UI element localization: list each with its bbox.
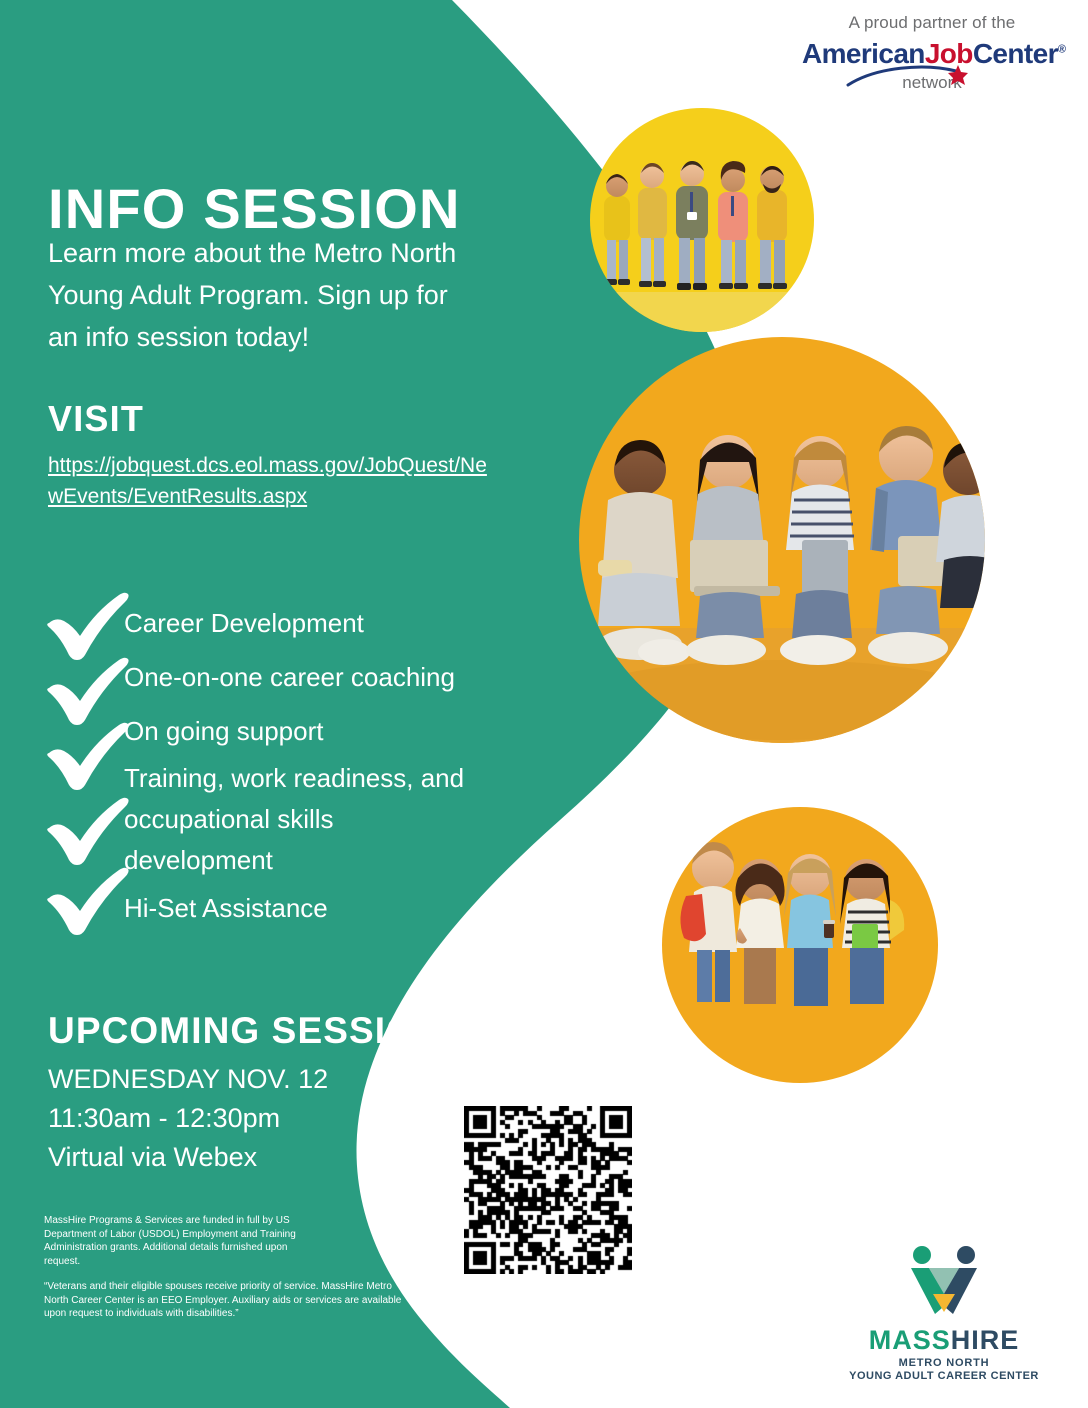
masshire-wordmark: MASSHIRE — [838, 1325, 1050, 1356]
list-item: On going support — [44, 704, 514, 758]
benefits-checklist: Career Development One-on-one career coa… — [44, 596, 514, 935]
session-time: 11:30am - 12:30pm — [48, 1099, 328, 1138]
photo-students-backpacks-thumbsup — [662, 807, 938, 1083]
list-item-label: On going support — [120, 711, 323, 752]
masshire-logo: MASSHIRE METRO NORTH YOUNG ADULT CAREER … — [838, 1246, 1050, 1382]
eeo-disclaimer: “Veterans and their eligible spouses rec… — [44, 1280, 416, 1321]
masshire-region: METRO NORTH — [838, 1357, 1050, 1369]
checkmark-icon — [44, 704, 120, 758]
list-item: One-on-one career coaching — [44, 650, 514, 704]
list-item: Hi-Set Assistance — [44, 881, 514, 935]
checkmark-icon — [44, 881, 120, 935]
photo-group-standing-lanyards — [590, 108, 814, 332]
masshire-word-mass: MASS — [869, 1325, 951, 1355]
masshire-people-m-icon — [889, 1246, 999, 1318]
masshire-center-name: YOUNG ADULT CAREER CENTER — [838, 1370, 1050, 1382]
jobquest-url-link[interactable]: https://jobquest.dcs.eol.mass.gov/JobQue… — [48, 450, 488, 512]
qr-code-icon[interactable] — [450, 1092, 646, 1288]
checkmark-icon — [44, 596, 120, 650]
list-item-label: One-on-one career coaching — [120, 657, 455, 698]
visit-heading: VISIT — [48, 398, 144, 440]
list-item-label: Career Development — [120, 603, 364, 644]
checkmark-icon — [44, 793, 120, 847]
star-icon — [948, 65, 968, 85]
american-job-center-logo: A proud partner of the AmericanJobCenter… — [802, 14, 1062, 93]
page-subtitle: Learn more about the Metro North Young A… — [48, 232, 468, 358]
list-item: Career Development — [44, 596, 514, 650]
partner-tagline: A proud partner of the — [802, 14, 1062, 33]
checkmark-icon — [44, 650, 120, 704]
list-item: Training, work readiness, and occupation… — [44, 758, 514, 881]
session-date: WEDNESDAY NOV. 12 — [48, 1060, 328, 1099]
session-location: Virtual via Webex — [48, 1138, 328, 1177]
list-item-label: Training, work readiness, and occupation… — [120, 758, 476, 881]
flyer-poster: A proud partner of the AmericanJobCenter… — [0, 0, 1088, 1408]
masshire-word-hire: HIRE — [951, 1325, 1020, 1355]
session-details: WEDNESDAY NOV. 12 11:30am - 12:30pm Virt… — [48, 1060, 328, 1177]
funding-disclaimer: MassHire Programs & Services are funded … — [44, 1214, 312, 1268]
upcoming-session-heading: UPCOMING SESSION: — [48, 1010, 457, 1052]
list-item-label: Hi-Set Assistance — [120, 888, 328, 929]
swoosh-icon — [846, 65, 986, 87]
registered-mark: ® — [1058, 43, 1066, 55]
